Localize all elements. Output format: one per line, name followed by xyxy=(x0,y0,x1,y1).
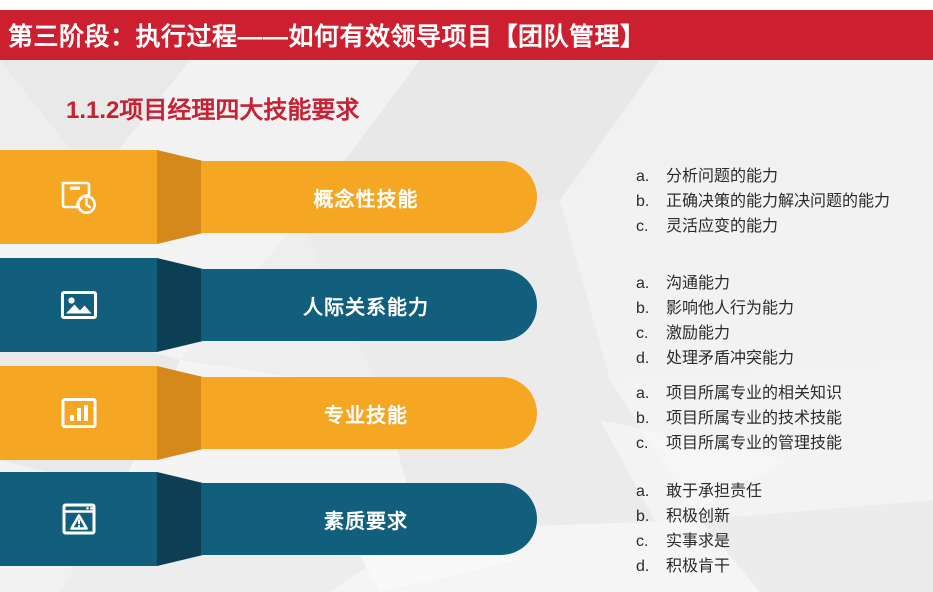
list-item: b. 项目所属专业的技术技能 xyxy=(636,406,842,431)
list-item: c. 实事求是 xyxy=(636,529,762,554)
list-marker: c. xyxy=(636,321,666,346)
list-item: a. 分析问题的能力 xyxy=(636,164,890,189)
list-item: d. 积极肯干 xyxy=(636,554,762,579)
icon-box-1 xyxy=(0,150,157,244)
list-marker: a. xyxy=(636,164,666,189)
connector-3 xyxy=(157,366,203,460)
skill-list-4: a. 敢于承担责任 b. 积极创新 c. 实事求是 d. 积极肯干 xyxy=(636,479,762,579)
list-marker: d. xyxy=(636,346,666,371)
list-marker: a. xyxy=(636,271,666,296)
list-item: c. 灵活应变的能力 xyxy=(636,214,890,239)
icon-box-3 xyxy=(0,366,157,460)
section-heading: 1.1.2项目经理四大技能要求 xyxy=(66,90,359,125)
list-text: 项目所属专业的技术技能 xyxy=(666,406,842,431)
bar-chart-icon xyxy=(59,393,99,433)
list-text: 沟通能力 xyxy=(666,271,794,296)
list-text: 灵活应变的能力 xyxy=(666,214,890,239)
skill-list-2: a. 沟通能力 b. 影响他人行为能力 c. 激励能力 d. 处理矛盾冲突能力 xyxy=(636,271,794,371)
list-marker: b. xyxy=(636,406,666,431)
list-item: a. 项目所属专业的相关知识 xyxy=(636,381,842,406)
list-text: 正确决策的能力解决问题的能力 xyxy=(666,189,890,214)
clipboard-clock-icon xyxy=(59,177,99,217)
list-marker: a. xyxy=(636,479,666,504)
list-text: 分析问题的能力 xyxy=(666,164,890,189)
page-title: 第三阶段：执行过程——如何有效领导项目【团队管理】 xyxy=(0,17,646,53)
skill-list-1: a. 分析问题的能力 b. 正确决策的能力解决问题的能力 c. 灵活应变的能力 xyxy=(636,164,890,239)
list-text: 实事求是 xyxy=(666,529,762,554)
list-text: 项目所属专业的管理技能 xyxy=(666,431,842,456)
list-marker: b. xyxy=(636,504,666,529)
list-text: 积极肯干 xyxy=(666,554,762,579)
list-item: b. 积极创新 xyxy=(636,504,762,529)
icon-box-2 xyxy=(0,258,157,352)
list-marker: d. xyxy=(636,554,666,579)
list-marker: c. xyxy=(636,529,666,554)
list-item: c. 项目所属专业的管理技能 xyxy=(636,431,842,456)
list-marker: a. xyxy=(636,381,666,406)
list-item: a. 沟通能力 xyxy=(636,271,794,296)
list-marker: b. xyxy=(636,189,666,214)
list-item: b. 正确决策的能力解决问题的能力 xyxy=(636,189,890,214)
connector-1 xyxy=(157,150,203,244)
title-bar: 第三阶段：执行过程——如何有效领导项目【团队管理】 xyxy=(0,10,933,60)
list-text: 敢于承担责任 xyxy=(666,479,762,504)
arrow-bar-3 xyxy=(201,377,573,449)
arrow-bar-4 xyxy=(201,483,573,555)
picture-icon xyxy=(59,285,99,325)
skill-list-3: a. 项目所属专业的相关知识 b. 项目所属专业的技术技能 c. 项目所属专业的… xyxy=(636,381,842,456)
window-warning-icon xyxy=(59,499,99,539)
list-marker: b. xyxy=(636,296,666,321)
list-marker: c. xyxy=(636,214,666,239)
list-text: 项目所属专业的相关知识 xyxy=(666,381,842,406)
list-marker: c. xyxy=(636,431,666,456)
arrow-bar-2 xyxy=(201,269,573,341)
list-text: 激励能力 xyxy=(666,321,794,346)
list-text: 处理矛盾冲突能力 xyxy=(666,346,794,371)
list-text: 积极创新 xyxy=(666,504,762,529)
connector-2 xyxy=(157,258,203,352)
icon-box-4 xyxy=(0,472,157,566)
list-item: c. 激励能力 xyxy=(636,321,794,346)
slide: 第三阶段：执行过程——如何有效领导项目【团队管理】 1.1.2项目经理四大技能要… xyxy=(0,0,933,592)
connector-4 xyxy=(157,472,203,566)
list-text: 影响他人行为能力 xyxy=(666,296,794,321)
arrow-bar-1 xyxy=(201,161,573,233)
list-item: d. 处理矛盾冲突能力 xyxy=(636,346,794,371)
list-item: b. 影响他人行为能力 xyxy=(636,296,794,321)
list-item: a. 敢于承担责任 xyxy=(636,479,762,504)
